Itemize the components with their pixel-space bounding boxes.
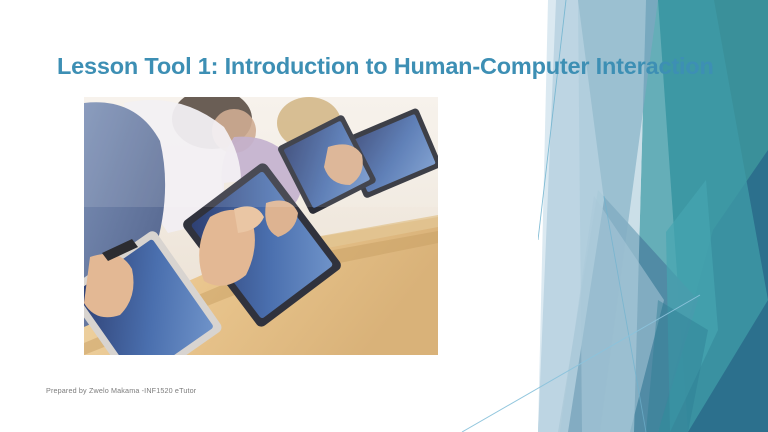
slide-photo (84, 97, 438, 355)
slide-photo-illustration (84, 97, 438, 355)
photo-soft-focus-veil (84, 97, 438, 207)
slide-canvas: Lesson Tool 1: Introduction to Human-Com… (0, 0, 768, 432)
footer-credit: Prepared by Zwelo Makama -INF1520 eTutor (46, 386, 196, 395)
page-title: Lesson Tool 1: Introduction to Human-Com… (57, 53, 677, 80)
